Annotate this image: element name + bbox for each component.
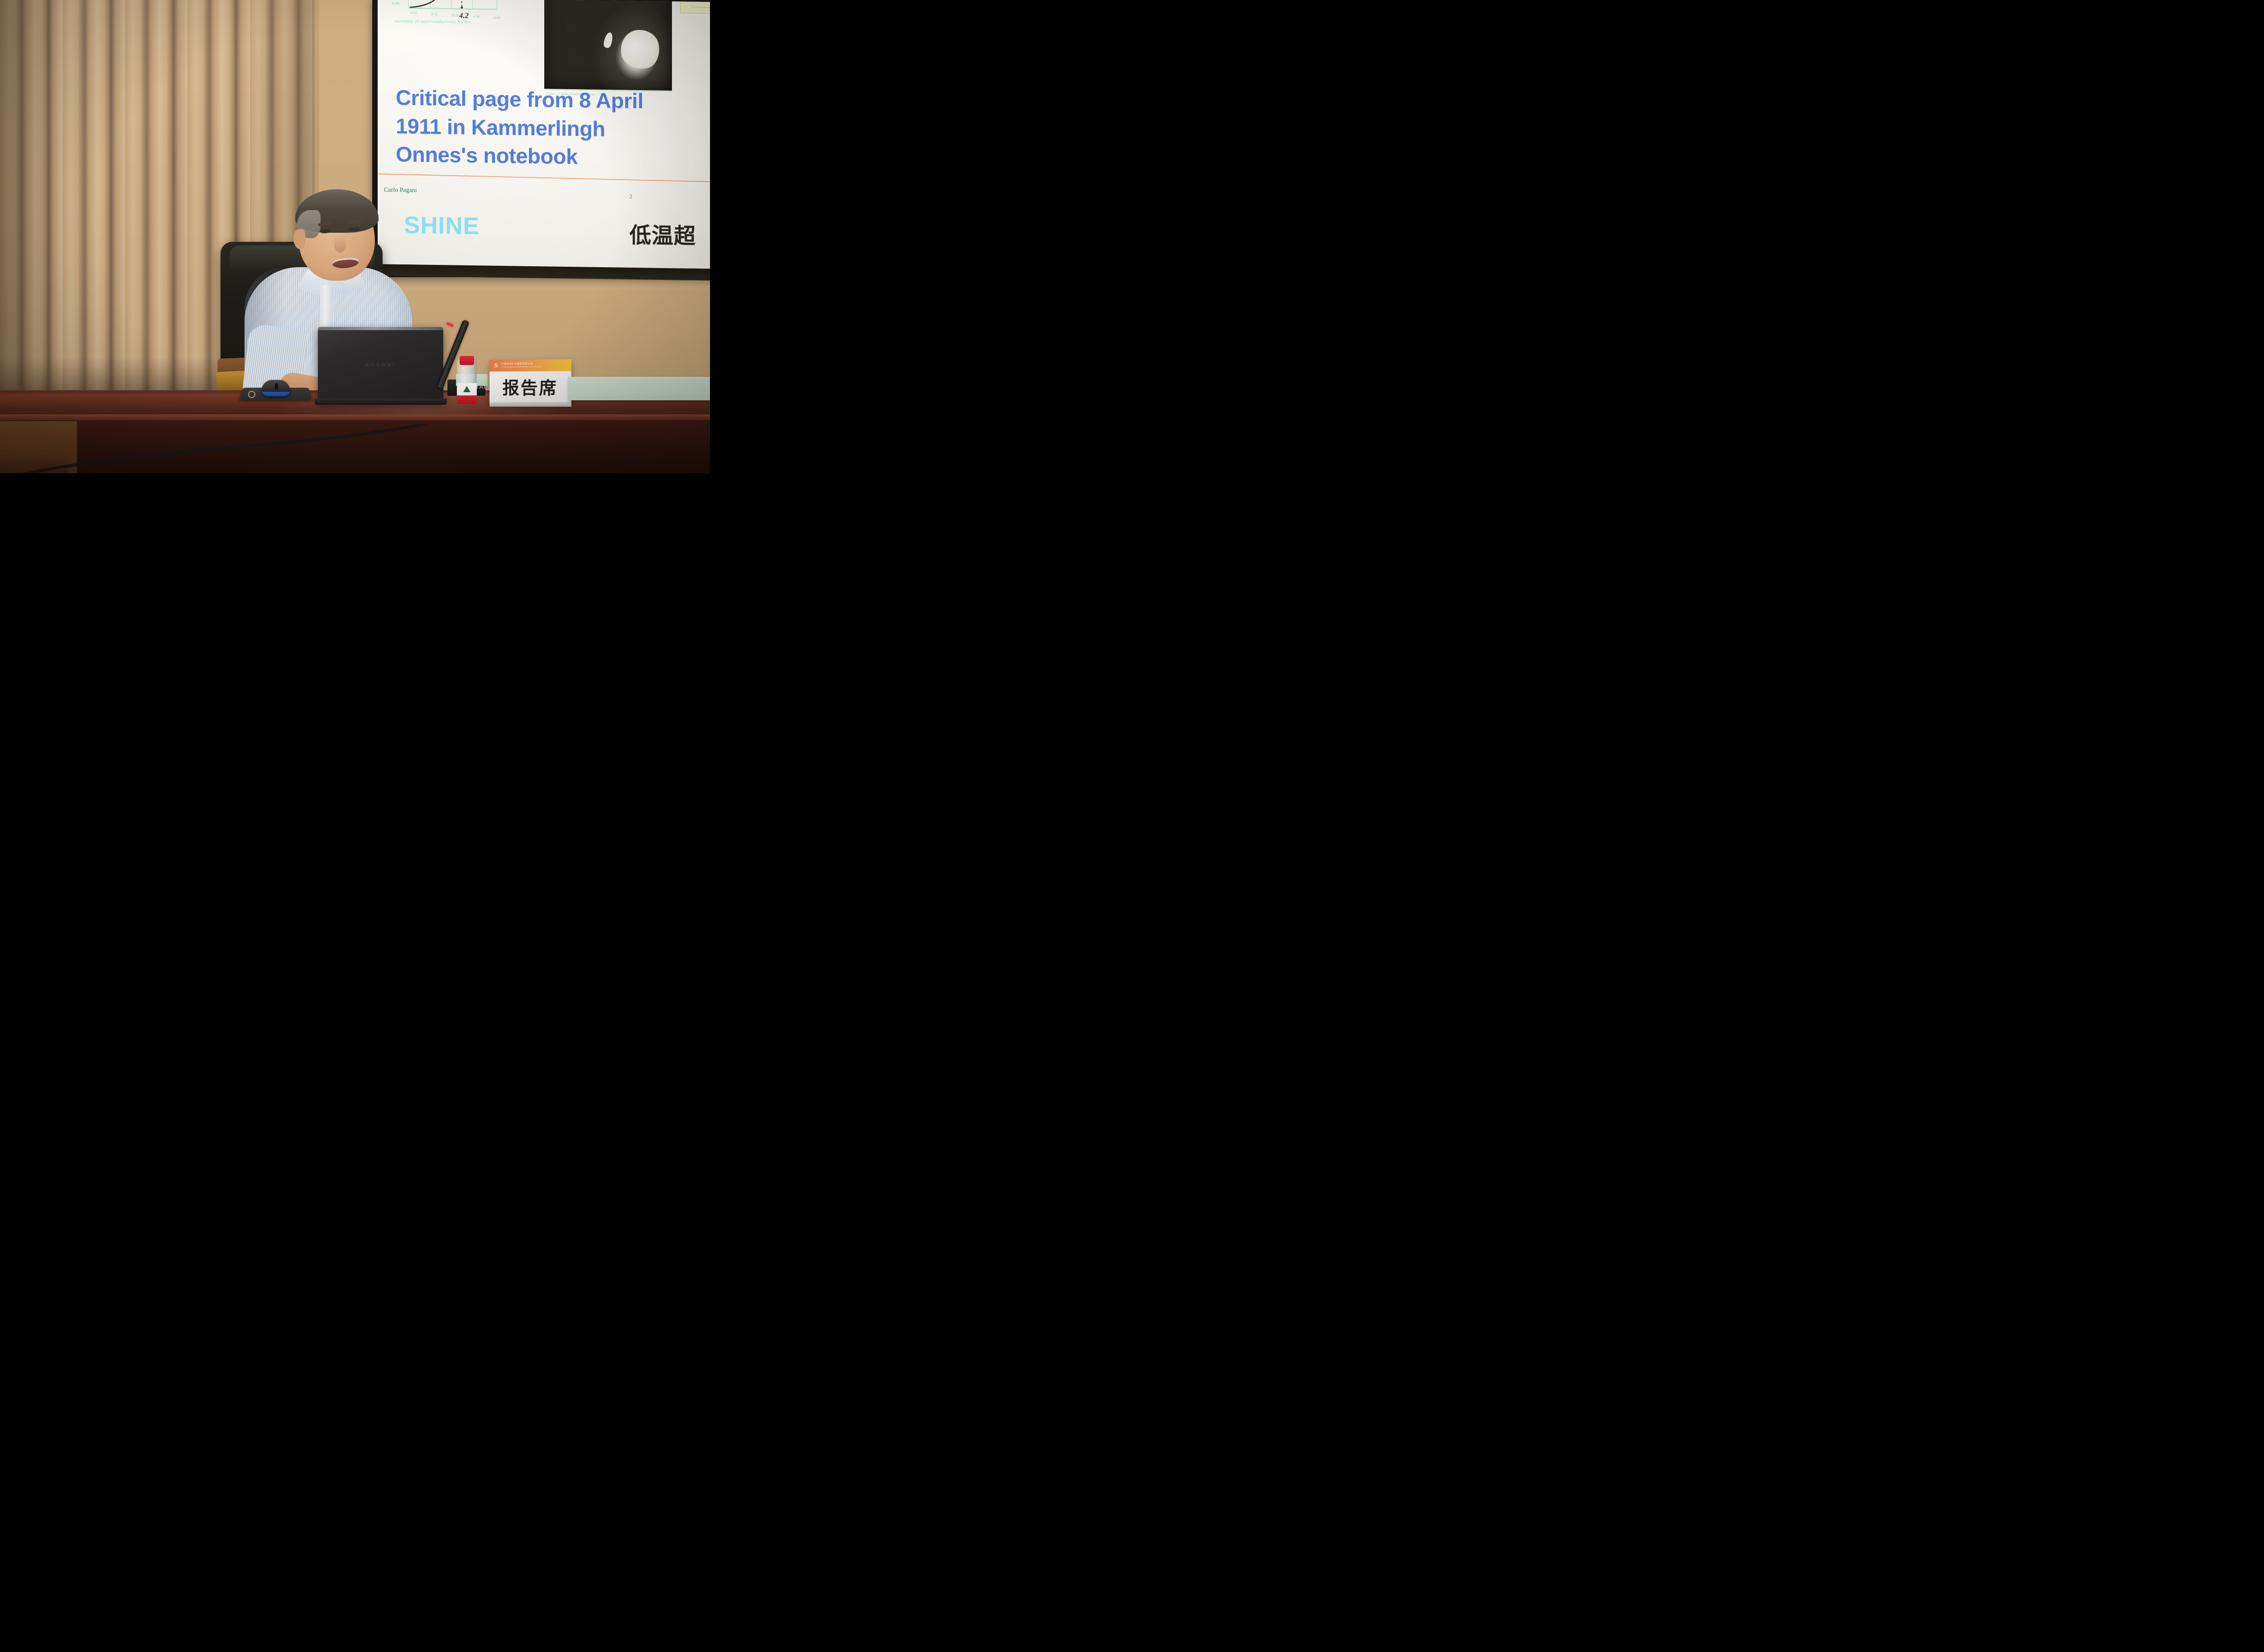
- nameplate-org-english: China Nonferrous Metal Mining Group Co.,…: [501, 365, 542, 368]
- desk-nameplate: S 中国有色矿业集团有限公司 China Nonferrous Metal Mi…: [489, 359, 571, 404]
- chart-data-curve: [408, 0, 497, 10]
- photo-drop-highlight: [603, 32, 614, 49]
- chart-annotation-42: 4.2: [459, 11, 469, 20]
- laptop-lid-edge: [318, 327, 443, 330]
- chart-xtick-1: 4°10: [431, 12, 438, 16]
- conference-room-photo: 0,025 0,00 4°00 4°10 4°20 4°30 4°40 0.5 …: [0, 0, 710, 473]
- photo-hand-highlight: [619, 28, 662, 71]
- chart-xtick-4: 4°40: [494, 15, 501, 20]
- podium-left-base: [0, 453, 68, 473]
- company-logo-icon: S: [493, 362, 499, 370]
- speaker-ear: [293, 229, 305, 249]
- conference-desk-front: [0, 420, 710, 473]
- speaker-nose: [334, 235, 346, 253]
- slide-title-line-1: Critical page from 8 April: [396, 84, 699, 116]
- resistance-temperature-chart: 0,025 0,00 4°00 4°10 4°20 4°30 4°40 0.5 …: [391, 0, 509, 42]
- slide-title-line-2: 1911 in Kammerlingh: [396, 112, 699, 144]
- chart-xtick-3: 4°30: [473, 14, 480, 19]
- bottle-cap[interactable]: [460, 356, 474, 365]
- chart-ytick-000: 0,00: [392, 1, 400, 5]
- slide-chinese-text: 低温超: [629, 217, 696, 250]
- kamerlingh-onnes-photo: [544, 0, 672, 92]
- nameplate-role-text: 报告席: [489, 374, 571, 399]
- slide-page-number: 2: [629, 193, 633, 200]
- laptop-brand-label: HUAWEI: [318, 362, 443, 368]
- mouse-scroll-wheel[interactable]: [275, 383, 278, 389]
- slide-title-line-3: Onnes's notebook: [396, 140, 699, 173]
- chart-xtick-0: 4°00: [410, 11, 417, 15]
- laptop-base: [315, 399, 447, 405]
- desk-papers: [568, 377, 710, 400]
- slide-note-box: [680, 0, 710, 14]
- slide-title: Critical page from 8 April 1911 in Kamme…: [396, 84, 699, 173]
- nameplate-stand: [489, 402, 571, 407]
- curtain-shadow-left: [0, 0, 59, 399]
- mousepad-logo-icon: [248, 391, 255, 398]
- projection-screen: 0,025 0,00 4°00 4°10 4°20 4°30 4°40 0.5 …: [378, 0, 710, 274]
- chart-xtick-2: 4°20: [452, 13, 459, 18]
